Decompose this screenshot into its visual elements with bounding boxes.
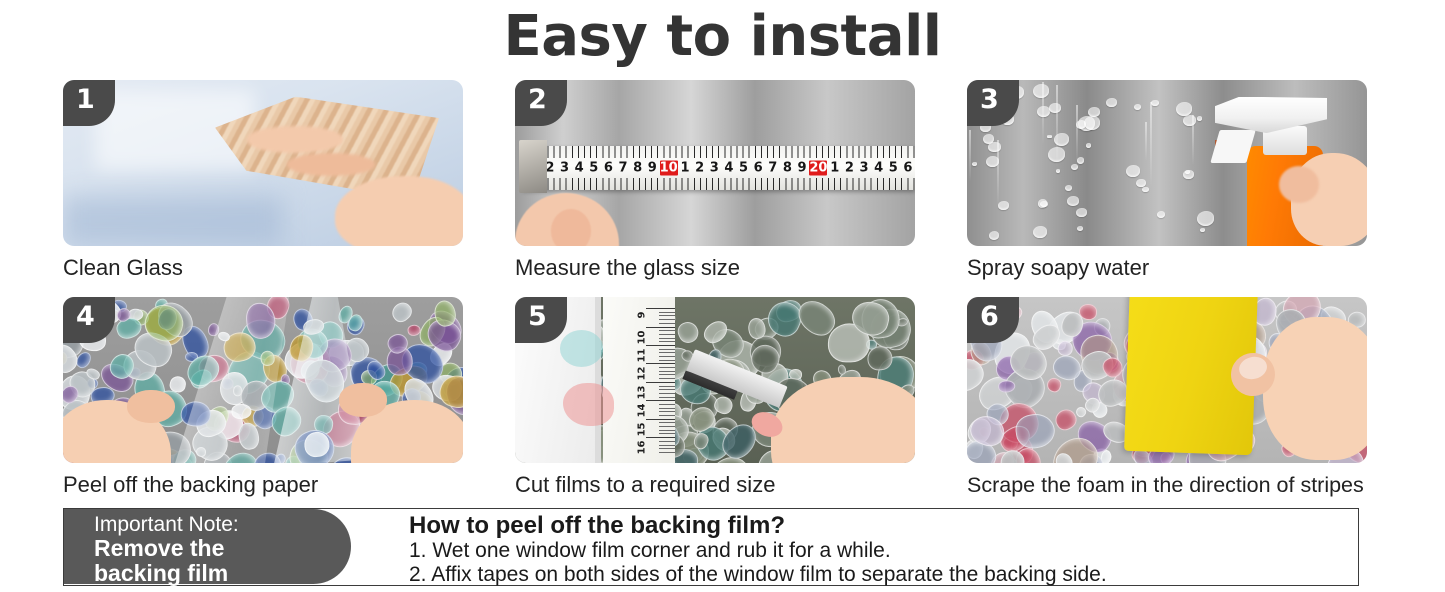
step-image-2: 2 234567891012345678920123456 xyxy=(515,80,915,246)
finger-shape xyxy=(339,383,387,416)
ruler-number: 16 xyxy=(636,441,647,455)
page-title: Easy to install xyxy=(0,4,1445,70)
water-droplet xyxy=(1086,143,1092,148)
step-card-2: 2 234567891012345678920123456 Measure th… xyxy=(515,80,915,281)
note-item-1: 1. Wet one window film corner and rub it… xyxy=(409,539,1339,563)
tape-number: 7 xyxy=(616,160,631,175)
tape-number: 2 xyxy=(692,160,707,175)
water-droplet xyxy=(988,142,1001,153)
water-droplet xyxy=(1197,211,1215,226)
water-streak xyxy=(1056,85,1058,167)
step-card-3: 3 Spray soapy water xyxy=(967,80,1367,281)
ruler-tick-major xyxy=(646,363,675,364)
note-item-2: 2. Affix tapes on both sides of the wind… xyxy=(409,563,1339,587)
ruler-tick-minor xyxy=(659,341,675,342)
water-droplet xyxy=(1040,201,1047,207)
ruler-number: 11 xyxy=(636,348,647,362)
ruler-tick-minor xyxy=(659,393,675,394)
water-streak xyxy=(1150,102,1152,187)
ruler-tick-minor xyxy=(659,374,675,375)
ruler-tick-minor xyxy=(659,415,675,416)
tape-number: 3 xyxy=(707,160,722,175)
tape-number: 7 xyxy=(765,160,780,175)
finger-shape xyxy=(247,126,343,153)
ruler-number: 14 xyxy=(636,404,647,418)
water-droplet xyxy=(1126,165,1140,177)
water-droplet xyxy=(1077,226,1083,231)
water-droplet xyxy=(1142,187,1148,192)
water-droplet xyxy=(1047,135,1051,139)
finger-shape xyxy=(127,390,175,423)
tape-number: 1 xyxy=(678,160,693,175)
water-droplet xyxy=(1077,157,1084,163)
ruler-tick-minor xyxy=(659,433,675,434)
water-droplet xyxy=(1056,169,1060,172)
infographic-page: Easy to install 1 Clean Glass xyxy=(0,0,1445,592)
ruler-tick-minor xyxy=(659,356,675,357)
important-note-box: Important Note: Remove the backing film … xyxy=(63,508,1359,586)
step-caption-1: Clean Glass xyxy=(63,255,463,281)
water-droplet xyxy=(1200,228,1205,232)
thumb-shape xyxy=(551,209,591,246)
water-droplet xyxy=(1033,226,1047,238)
water-droplet xyxy=(1134,104,1141,110)
ruler-tick-minor xyxy=(659,426,675,427)
step-image-3: 3 xyxy=(967,80,1367,246)
water-droplet xyxy=(989,231,999,240)
ruler-tick-minor xyxy=(659,448,675,449)
important-note-pill: Important Note: Remove the backing film xyxy=(64,509,351,584)
step-card-5: 910111213141516 5 Cut films to a require… xyxy=(515,297,915,498)
steps-grid: 1 Clean Glass 2 23456789101 xyxy=(63,80,1363,514)
step-card-6: 6 Scrape the foam in the direction of st… xyxy=(967,297,1367,498)
ruler-tick-minor xyxy=(659,397,675,398)
water-streak xyxy=(1076,105,1078,163)
step-caption-5: Cut films to a required size xyxy=(515,472,915,498)
step-caption-4: Peel off the backing paper xyxy=(63,472,463,498)
tape-ticks-bottom xyxy=(523,178,915,189)
ruler-tick-minor xyxy=(659,386,675,387)
ruler-tick-major xyxy=(646,437,675,438)
ruler-tick-minor xyxy=(659,430,675,431)
water-streak xyxy=(969,130,971,182)
ruler-tick-major xyxy=(646,327,675,328)
ruler-tick-major xyxy=(646,419,675,420)
steps-row-bottom: 4 Peel off the backing paper 91011121314… xyxy=(63,297,1363,498)
step-image-5: 910111213141516 5 xyxy=(515,297,915,463)
film-edge xyxy=(595,297,601,463)
hand-shape xyxy=(335,176,463,246)
ruler-tick-minor xyxy=(659,352,675,353)
tape-number: 8 xyxy=(630,160,645,175)
water-droplet xyxy=(1106,98,1117,107)
ruler-tick-minor xyxy=(659,422,675,423)
tape-number: 3 xyxy=(857,160,872,175)
ruler-tick-minor xyxy=(659,445,675,446)
ruler-number: 9 xyxy=(636,312,647,319)
finger-shape xyxy=(287,153,375,176)
pink-pebble-blob xyxy=(563,383,613,426)
tape-number: 4 xyxy=(871,160,886,175)
tape-number: 20 xyxy=(809,160,827,175)
tape-number: 5 xyxy=(736,160,751,175)
note-pill-line1: Important Note: xyxy=(94,513,351,536)
tape-number: 3 xyxy=(557,160,572,175)
water-droplet xyxy=(1049,103,1061,113)
steps-row-top: 1 Clean Glass 2 23456789101 xyxy=(63,80,1363,281)
water-droplet xyxy=(1183,170,1193,179)
ruler-tick-minor xyxy=(659,349,675,350)
tape-number: 6 xyxy=(901,160,915,175)
step-image-1: 1 xyxy=(63,80,463,246)
ruler-tick-minor xyxy=(659,323,675,324)
water-droplet xyxy=(1076,208,1087,217)
step-caption-3: Spray soapy water xyxy=(967,255,1367,281)
note-body: How to peel off the backing film? 1. Wet… xyxy=(409,512,1339,587)
tape-ticks-top xyxy=(523,146,915,157)
water-streak xyxy=(997,140,999,206)
water-droplet xyxy=(1065,185,1072,191)
tape-measure-icon: 234567891012345678920123456 xyxy=(523,146,915,189)
tape-number: 6 xyxy=(601,160,616,175)
tape-numbers: 234567891012345678920123456 xyxy=(523,160,915,175)
ruler-number: 13 xyxy=(636,385,647,399)
note-pill-line3: backing film xyxy=(94,561,351,586)
tape-number: 6 xyxy=(751,160,766,175)
ruler-tick-minor xyxy=(659,404,675,405)
ruler-tick-minor xyxy=(659,367,675,368)
water-droplet xyxy=(1151,100,1158,106)
ruler-tick-major xyxy=(646,308,675,309)
note-pill-line2: Remove the xyxy=(94,536,351,561)
tape-number: 5 xyxy=(886,160,901,175)
ruler-tick-minor xyxy=(659,408,675,409)
ruler-tick-minor xyxy=(659,312,675,313)
ruler-tick-minor xyxy=(659,319,675,320)
tape-hook-icon xyxy=(519,140,547,193)
water-streak xyxy=(1192,115,1194,165)
ruler-tick-major xyxy=(646,400,675,401)
note-heading: How to peel off the backing film? xyxy=(409,512,1339,539)
glass-shadow xyxy=(63,196,283,246)
step-card-1: 1 Clean Glass xyxy=(63,80,463,281)
pebble-shape xyxy=(675,319,702,346)
ruler-tick-minor xyxy=(659,330,675,331)
tape-number: 4 xyxy=(572,160,587,175)
ruler-tick-major xyxy=(646,382,675,383)
water-droplet xyxy=(1033,84,1050,98)
teal-pebble-blob xyxy=(560,330,603,367)
water-streak xyxy=(1145,122,1147,161)
water-droplet xyxy=(1084,116,1100,130)
tape-number: 8 xyxy=(780,160,795,175)
step-image-6: 6 xyxy=(967,297,1367,463)
hand-shape xyxy=(1263,317,1367,460)
water-droplet xyxy=(1197,116,1202,120)
spray-head-icon xyxy=(1215,97,1327,134)
pebble-shape xyxy=(997,379,1015,393)
water-droplet xyxy=(1183,115,1196,126)
ruler-tick-minor xyxy=(659,378,675,379)
water-droplet xyxy=(1067,196,1079,207)
water-streak xyxy=(1042,82,1044,144)
ruler-icon: 910111213141516 xyxy=(603,297,675,463)
step-number-badge-2: 2 xyxy=(515,80,567,126)
pebble-shape xyxy=(388,299,415,325)
knuckle-shape xyxy=(1279,166,1319,203)
ruler-tick-minor xyxy=(659,452,675,453)
tape-number: 10 xyxy=(660,160,678,175)
ruler-tick-minor xyxy=(659,334,675,335)
pebble-shape xyxy=(1046,377,1063,395)
ruler-tick-major xyxy=(646,345,675,346)
water-droplet xyxy=(1176,102,1192,115)
ruler-number: 12 xyxy=(636,367,647,381)
ruler-tick-minor xyxy=(659,411,675,412)
ruler-tick-minor xyxy=(659,441,675,442)
ruler-tick-minor xyxy=(659,389,675,390)
water-droplet xyxy=(972,162,977,166)
step-caption-6: Scrape the foam in the direction of stri… xyxy=(967,472,1367,498)
ruler-tick-minor xyxy=(659,315,675,316)
ruler-tick-minor xyxy=(659,338,675,339)
tape-number: 9 xyxy=(795,160,810,175)
ruler-tick-minor xyxy=(659,371,675,372)
water-droplet xyxy=(998,201,1009,210)
tape-number: 1 xyxy=(827,160,842,175)
tape-number: 4 xyxy=(722,160,737,175)
ruler-tick-minor xyxy=(659,360,675,361)
water-droplet xyxy=(1071,164,1078,170)
ruler-number: 10 xyxy=(636,330,647,344)
tape-number: 5 xyxy=(586,160,601,175)
water-droplet xyxy=(1136,179,1146,187)
step-caption-2: Measure the glass size xyxy=(515,255,915,281)
water-droplet xyxy=(1157,211,1165,218)
step-image-4: 4 xyxy=(63,297,463,463)
tape-number: 9 xyxy=(645,160,660,175)
tape-number: 2 xyxy=(842,160,857,175)
step-card-4: 4 Peel off the backing paper xyxy=(63,297,463,498)
ruler-number: 15 xyxy=(636,422,647,436)
